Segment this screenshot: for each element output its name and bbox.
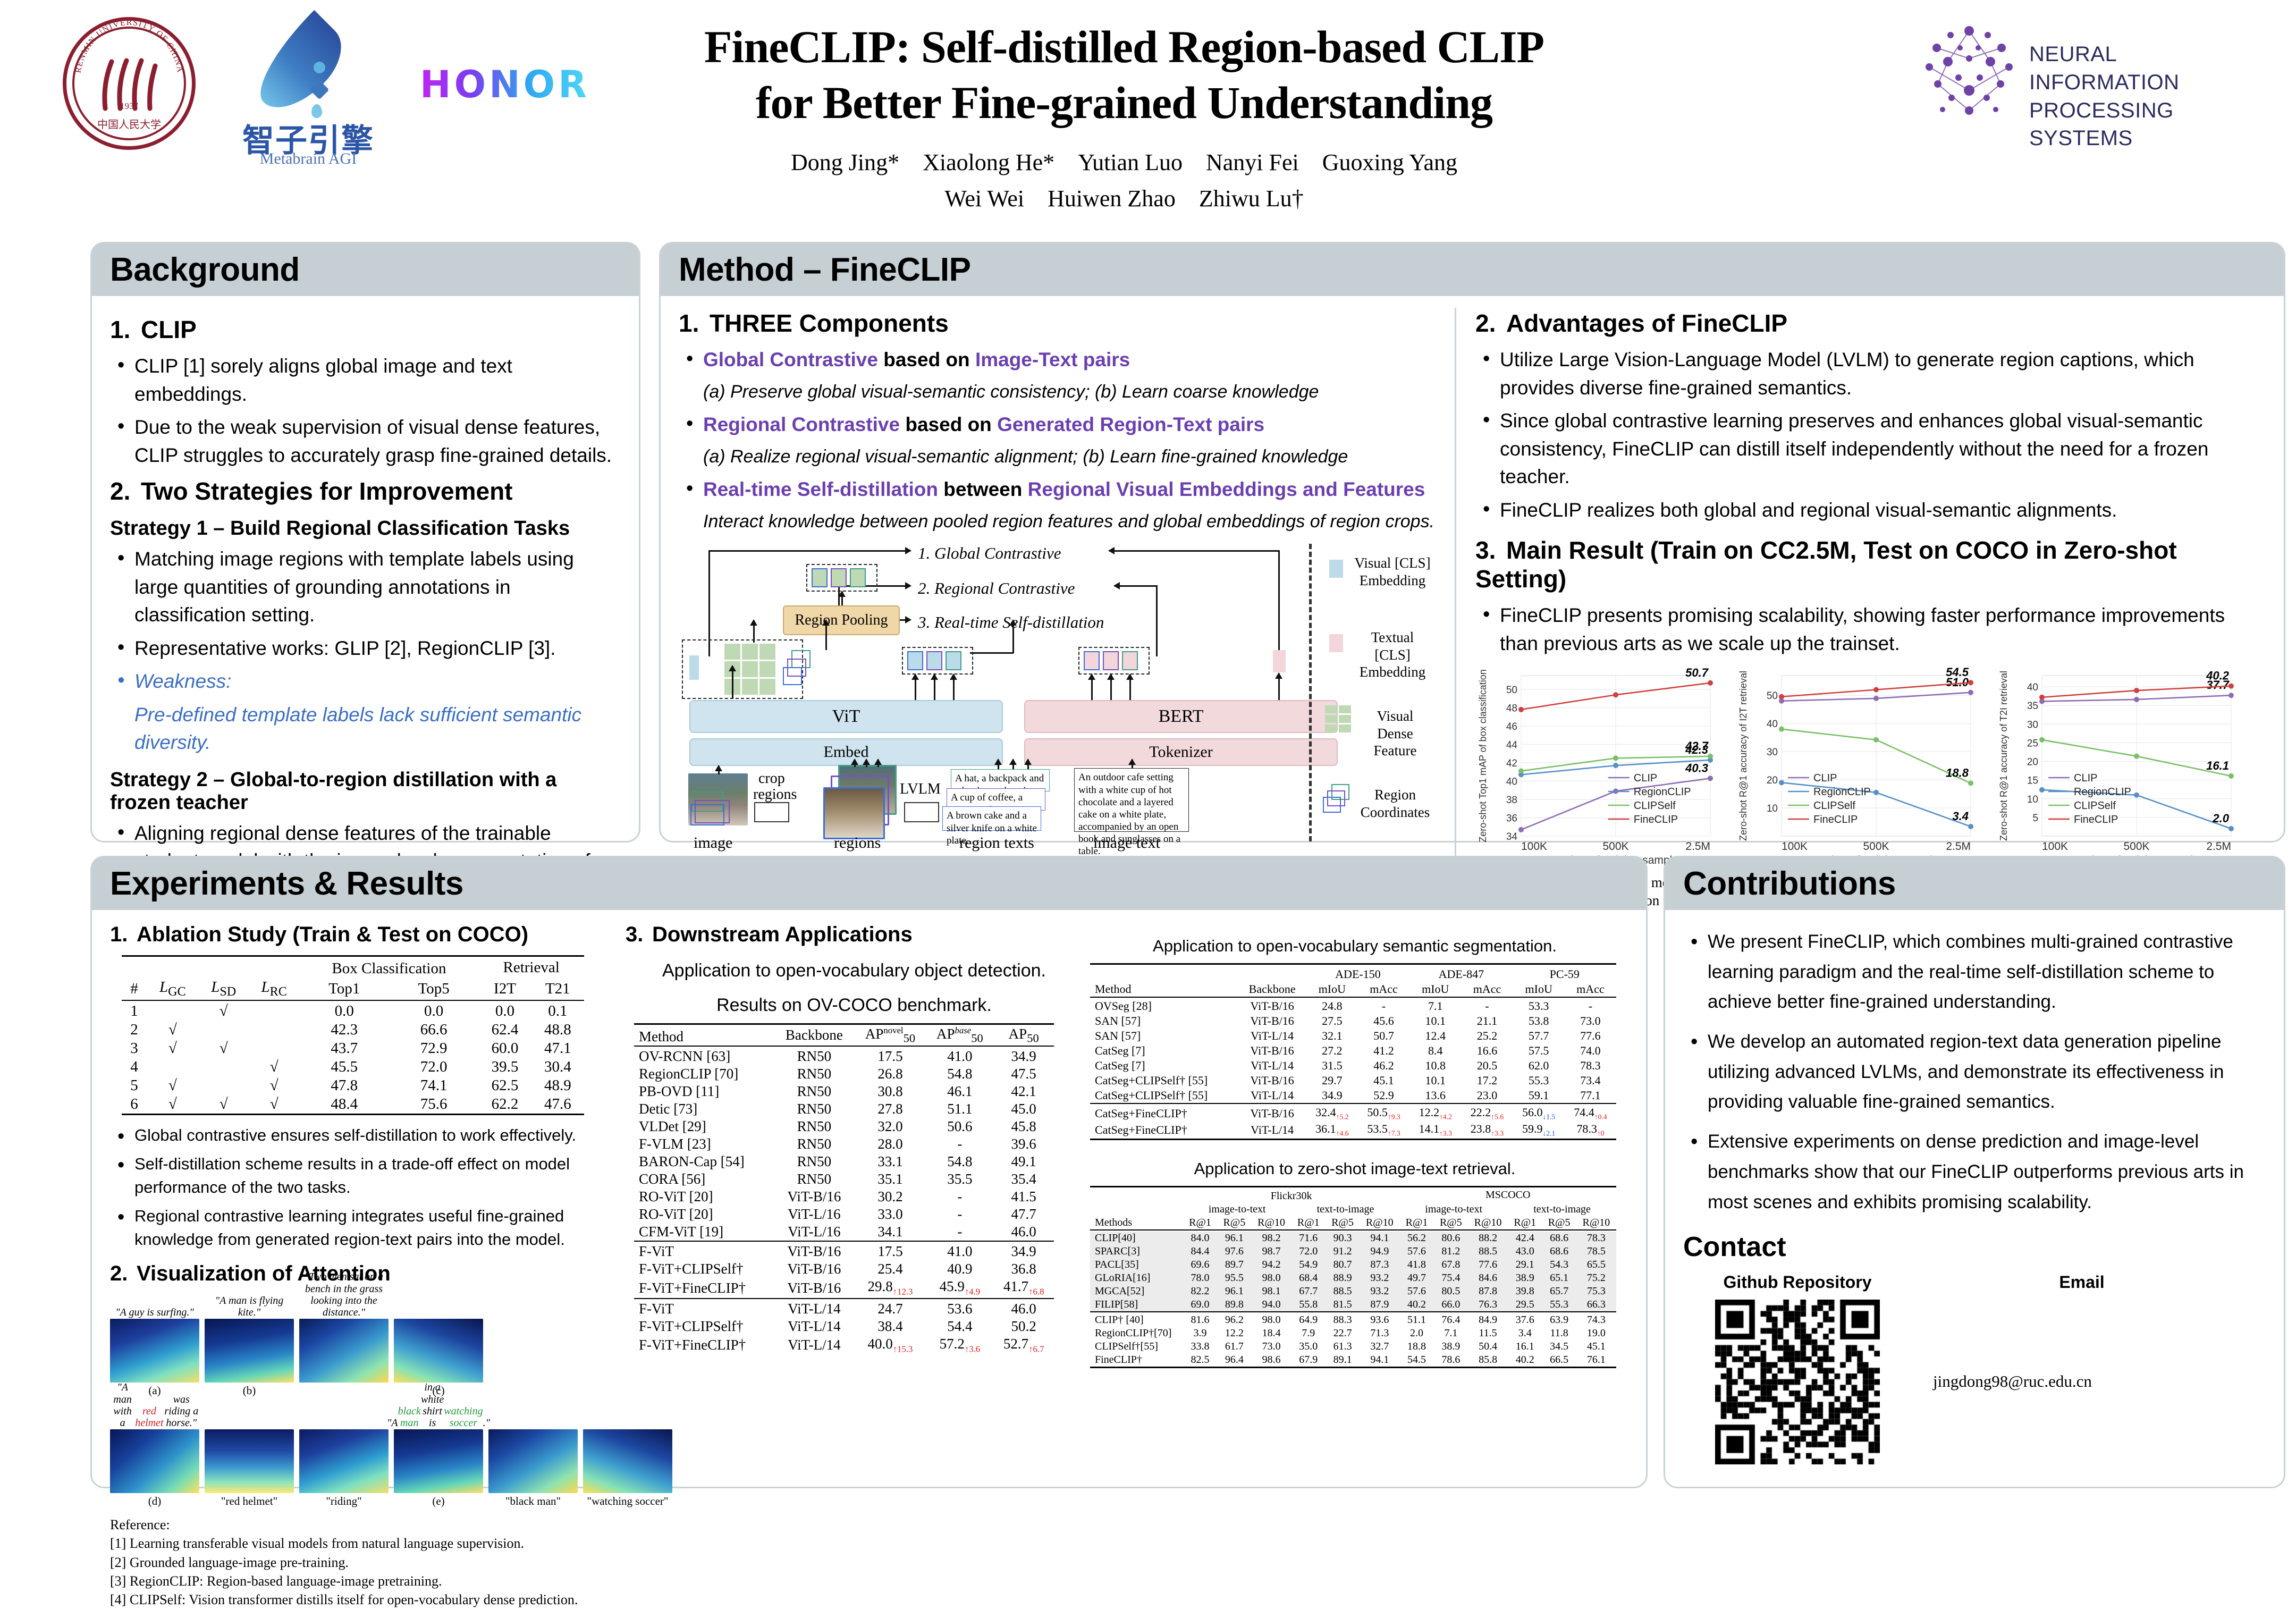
connector <box>1109 550 1279 552</box>
svg-text:Zero-shot R@1 accuracy of T2I: Zero-shot R@1 accuracy of T2I retrieval <box>1998 671 2009 841</box>
poster-title-line1: FineCLIP: Self-distilled Region-based CL… <box>704 21 1544 72</box>
attention-heatmap-image <box>205 1319 294 1383</box>
ovd-intro: Application to open-vocabulary object de… <box>626 960 1083 981</box>
section-number: 3. <box>1475 536 1506 564</box>
attention-viz-caption <box>488 1405 578 1429</box>
svg-text:40: 40 <box>1506 777 1517 788</box>
component-term-mid: between <box>943 478 1022 500</box>
connector-arrow <box>854 760 856 767</box>
contact-heading: Contact <box>1683 1231 2266 1263</box>
method-heading: Method – FineCLIP <box>679 251 2266 289</box>
list-item: Due to the weak supervision of visual de… <box>110 414 621 469</box>
honor-logo: HONOR <box>420 63 590 106</box>
table-row: CatSeg+FineCLIP†ViT-L/1436.1↑4.653.5↑7.3… <box>1090 1122 1616 1139</box>
neurips-wordmark: NEURAL INFORMATION PROCESSING SYSTEMS <box>2029 40 2259 153</box>
reference-item: [2] Grounded language-image pre-training… <box>110 1553 612 1572</box>
pooled-token <box>831 568 847 587</box>
results-panel-body: 1.Ablation Study (Train & Test on COCO) … <box>92 910 1646 1618</box>
region-embedding-tile <box>946 651 961 670</box>
svg-text:40.3: 40.3 <box>1685 762 1708 775</box>
region-embedding-tile <box>907 651 923 670</box>
poster-root: RENMIN UNIVERSITY OF CHINA 1937 中国人民大学 智… <box>0 0 2296 1531</box>
legend-swatch-textual-cls <box>1329 634 1343 652</box>
component-detail: (a) Realize regional visual-semantic ali… <box>703 444 1441 470</box>
attention-viz-label: (b) <box>205 1384 294 1397</box>
lvlm-label: LVLM <box>900 781 941 798</box>
neurips-logo: NEURAL INFORMATION PROCESSING SYSTEMS <box>1919 22 2259 129</box>
component-term-mid: based on <box>883 349 969 370</box>
list-item: Real-time Self-distillation between Regi… <box>679 476 1441 504</box>
references-block: Reference: [1] Learning transferable vis… <box>110 1515 612 1609</box>
list-item: Global Contrastive based on Image-Text p… <box>679 346 1441 374</box>
results-right-column: 3.Downstream Applications Application to… <box>620 922 1619 1609</box>
github-block: Github Repository <box>1683 1273 1912 1464</box>
method-panel: Method – FineCLIP 1.THREE Components Glo… <box>659 242 2285 842</box>
diagram-col-label-regions: regions <box>834 834 881 852</box>
svg-text:5: 5 <box>2032 813 2038 824</box>
diagram-col-label-image: image <box>694 834 732 852</box>
svg-text:CLIPSelf: CLIPSelf <box>1813 800 1855 812</box>
attention-heatmap-image <box>299 1319 389 1383</box>
section-number: 3. <box>626 923 652 947</box>
attention-viz-label: (d) <box>110 1495 199 1508</box>
table-row: F-ViT+CLIPSelf†ViT-B/1625.440.936.8 <box>634 1260 1054 1278</box>
pooled-token <box>850 568 866 587</box>
ovcoco-table: MethodBackboneAPnovel50APbase50AP50OV-RC… <box>634 1023 1054 1355</box>
svg-text:36: 36 <box>1506 813 1517 824</box>
list-item: Representative works: GLIP [2], RegionCL… <box>110 635 621 663</box>
attention-viz-caption <box>205 1405 294 1429</box>
title-block: FineCLIP: Self-distilled Region-based CL… <box>627 19 1621 217</box>
email-label: Email <box>1933 1273 2231 1292</box>
svg-text:3.4: 3.4 <box>1952 810 1969 823</box>
metabrain-english-name: Metabrain AGI <box>223 150 393 168</box>
table-row: SAN [57]ViT-L/1432.150.712.425.257.777.6 <box>1090 1029 1616 1043</box>
table-row: CatSeg+CLIPSelf† [55]ViT-L/1434.952.913.… <box>1090 1088 1616 1103</box>
table-row: 2√42.366.662.448.8 <box>122 1021 584 1039</box>
svg-text:500K: 500K <box>1863 840 1889 853</box>
segmentation-table: ADE-150ADE-847PC-59MethodBackbonemIoUmAc… <box>1090 963 1616 1141</box>
svg-text:100K: 100K <box>2042 840 2068 853</box>
legend-swatch-visual-cls <box>1329 560 1343 578</box>
section-title: Main Result (Train on CC2.5M, Test on CO… <box>1475 536 2177 593</box>
table-row: CFM-ViT [19]ViT-L/1634.1-46.0 <box>634 1223 1054 1241</box>
table-row: OV-RCNN [63]RN5017.541.034.9 <box>634 1048 1054 1065</box>
table-row: SPARC[3]84.497.698.772.091.294.957.681.2… <box>1090 1245 1616 1258</box>
svg-text:20: 20 <box>2027 757 2038 768</box>
table-row: RegionCLIP†[70]3.912.218.47.922.771.32.0… <box>1090 1327 1616 1340</box>
crop-label-line2: regions <box>753 786 797 803</box>
component-list-3: Real-time Self-distillation between Regi… <box>679 476 1441 504</box>
attention-viz-caption <box>394 1294 483 1319</box>
vit-box: ViT <box>689 700 1003 733</box>
reference-item: [1] Learning transferable visual models … <box>110 1534 612 1553</box>
component-list-2: Regional Contrastive based on Generated … <box>679 411 1441 439</box>
legend-swatch-dense-feature <box>1325 705 1353 733</box>
background-heading: Background <box>110 251 621 289</box>
svg-text:40: 40 <box>2027 682 2038 693</box>
honor-wordmark: HONOR <box>420 63 590 106</box>
background-panel-header: Background <box>92 243 639 296</box>
table-row: CatSeg [7]ViT-L/1431.546.210.820.562.078… <box>1090 1058 1616 1073</box>
svg-text:CLIPSelf: CLIPSelf <box>1634 800 1676 812</box>
region-text-card: A brown cake and a silver knife on a whi… <box>942 806 1041 831</box>
strategy-1-bullets: Matching image regions with template lab… <box>110 545 621 696</box>
svg-text:15: 15 <box>2027 776 2038 787</box>
svg-text:40: 40 <box>1767 719 1778 730</box>
svg-text:16.1: 16.1 <box>2206 759 2229 772</box>
svg-text:CLIP: CLIP <box>2074 772 2097 784</box>
textual-embedding-tile <box>1122 651 1138 670</box>
connector-arrow <box>1012 620 1014 653</box>
table-row: F-ViT+FineCLIP†ViT-L/1440.0↑15.357.2↑3.6… <box>634 1335 1054 1355</box>
section-title: Two Strategies for Improvement <box>141 477 513 505</box>
component-term-mid: based on <box>905 414 991 435</box>
section-number: 1. <box>110 923 137 947</box>
ovd-column: 3.Downstream Applications Application to… <box>626 922 1083 1369</box>
reference-item: [4] CLIPSelf: Vision transformer distill… <box>110 1590 612 1609</box>
table-row: F-ViTViT-L/1424.753.646.0 <box>634 1300 1054 1318</box>
list-item: We present FineCLIP, which combines mult… <box>1683 927 2266 1017</box>
svg-text:2.5M: 2.5M <box>1946 840 1971 853</box>
section-number: 2. <box>1475 309 1506 338</box>
svg-text:18.8: 18.8 <box>1946 766 1969 780</box>
svg-text:Zero-shot R@1 accuracy of I2T: Zero-shot R@1 accuracy of I2T retrieval <box>1738 671 1749 841</box>
strategy-1-weakness-label: Weakness: <box>110 668 621 696</box>
clip-bullets: CLIP [1] sorely aligns global image and … <box>110 352 621 469</box>
legend-label-region-coord: Region Coordinates <box>1358 786 1432 821</box>
table-row: FineCLIP†82.596.498.667.989.194.154.578.… <box>1090 1353 1616 1368</box>
list-item: Utilize Large Vision-Language Model (LVL… <box>1475 346 2252 402</box>
attention-viz-cell: "red helmet" <box>205 1405 294 1508</box>
svg-text:RegionCLIP: RegionCLIP <box>2074 786 2131 798</box>
list-item: Regional Contrastive based on Generated … <box>679 411 1441 439</box>
author: Xiaolong He* <box>923 145 1054 181</box>
svg-text:30: 30 <box>2027 720 2038 731</box>
attention-heatmap-image <box>394 1319 483 1383</box>
author: Wei Wei <box>944 181 1024 217</box>
author: Nanyi Fei <box>1206 145 1299 181</box>
attention-viz-label: "black man" <box>488 1495 578 1508</box>
svg-text:500K: 500K <box>1602 840 1628 853</box>
seg-retrieval-column: Application to open-vocabulary semantic … <box>1083 922 1619 1369</box>
ablation-table: Box ClassificationRetrieval#LGCLSDLRCTop… <box>122 955 584 1116</box>
author: Yutian Luo <box>1078 145 1183 181</box>
connector <box>1278 550 1280 656</box>
table-row: FILIP[58]69.089.894.055.881.587.940.266.… <box>1090 1298 1616 1312</box>
svg-text:34: 34 <box>1506 831 1518 842</box>
table-row: F-ViT+CLIPSelf†ViT-L/1438.454.450.2 <box>634 1318 1054 1335</box>
diagram-step-1: 1. Global Contrastive <box>918 544 1061 563</box>
contributions-panel-header: Contributions <box>1665 857 2284 910</box>
svg-text:CLIP: CLIP <box>1813 772 1837 784</box>
tokenizer-box: Tokenizer <box>1024 738 1338 766</box>
table-row: Detic [73]RN5027.851.145.0 <box>634 1100 1054 1118</box>
attention-heatmap-image <box>110 1429 199 1493</box>
table-row: 1√0.00.00.00.1 <box>122 1002 584 1021</box>
background-panel: Background 1.CLIP CLIP [1] sorely aligns… <box>90 242 640 842</box>
attention-viz-cell: "Two men sat on a bench in the grass loo… <box>299 1294 389 1397</box>
advantages-list: Utilize Large Vision-Language Model (LVL… <box>1475 346 2252 524</box>
component-detail: (a) Preserve global visual-semantic cons… <box>703 380 1441 405</box>
author: Zhiwu Lu† <box>1199 181 1304 217</box>
attention-viz-cell: "A black man in a white shirt is watchin… <box>394 1405 483 1508</box>
author-list: Dong Jing*Xiaolong He*Yutian LuoNanyi Fe… <box>627 145 1621 217</box>
component-list: Global Contrastive based on Image-Text p… <box>679 346 1441 374</box>
github-qr-code[interactable] <box>1715 1300 1880 1464</box>
textual-embedding-tile <box>1084 651 1100 670</box>
section-title: THREE Components <box>710 309 949 337</box>
image-text-embedding-tile <box>1273 650 1286 672</box>
connector-arrow <box>953 675 955 700</box>
attention-viz-caption <box>299 1405 389 1429</box>
poster-header: RENMIN UNIVERSITY OF CHINA 1937 中国人民大学 智… <box>0 0 2296 234</box>
section-number: 1. <box>110 315 141 344</box>
connector-arrow <box>1129 675 1131 700</box>
attention-heatmap-image <box>205 1429 294 1493</box>
section-title: CLIP <box>141 316 197 343</box>
connector-arrow <box>1110 675 1112 700</box>
component-term-b: Regional Visual Embeddings and Features <box>1028 478 1425 500</box>
svg-text:46: 46 <box>1506 721 1517 732</box>
connector-arrow <box>934 675 935 700</box>
svg-text:20: 20 <box>1767 775 1778 786</box>
results-left-column: 1.Ablation Study (Train & Test on COCO) … <box>110 922 620 1609</box>
email-address[interactable]: jingdong98@ruc.edu.cn <box>1933 1372 2231 1391</box>
diagram-divider <box>1309 544 1312 841</box>
attention-heatmap-image <box>110 1319 199 1383</box>
strategy-1-weakness-text: Pre-defined template labels lack suffici… <box>134 701 621 757</box>
svg-text:50: 50 <box>1506 685 1517 696</box>
svg-text:40.2: 40.2 <box>2206 669 2230 682</box>
table-row: 6√√√48.475.662.247.6 <box>122 1095 584 1115</box>
table-row: GLoRIA[16]78.095.598.068.488.993.249.775… <box>1090 1271 1616 1285</box>
list-item: Since global contrastive learning preser… <box>1475 407 2252 491</box>
section-title: Ablation Study (Train & Test on COCO) <box>137 923 528 946</box>
svg-text:100K: 100K <box>1782 840 1808 853</box>
table-row: BARON-Cap [54]RN5033.154.849.1 <box>634 1153 1054 1170</box>
table-row: RegionCLIP [70]RN5026.854.847.5 <box>634 1065 1054 1083</box>
retrieval-title: Application to zero-shot image-text retr… <box>1090 1159 1619 1178</box>
background-section-2: 2.Two Strategies for Improvement <box>110 477 621 505</box>
region-embedding-tile <box>926 651 942 670</box>
connector <box>1115 585 1157 587</box>
connector-arrow <box>732 666 733 699</box>
legend-label-textual-cls: Textual [CLS] Embedding <box>1353 629 1432 680</box>
ovcoco-title: Results on OV-COCO benchmark. <box>626 995 1083 1016</box>
input-image-thumbnail <box>688 773 748 825</box>
table-row: PB-OVD [11]RN5030.846.142.1 <box>634 1083 1054 1100</box>
retrieval-table: Flickr30kMSCOCOimage-to-texttext-to-imag… <box>1090 1186 1616 1369</box>
method-panel-header: Method – FineCLIP <box>661 243 2284 296</box>
connector-arrow <box>1012 760 1014 769</box>
connector-arrow <box>915 675 916 700</box>
svg-text:100K: 100K <box>1521 840 1547 853</box>
connector-arrow <box>825 620 827 650</box>
attention-heatmap-image <box>299 1429 389 1493</box>
list-item: Regional contrastive learning integrates… <box>110 1204 612 1251</box>
component-term-b: Image-Text pairs <box>975 349 1130 370</box>
svg-text:25: 25 <box>2027 738 2038 749</box>
connector <box>970 652 1014 654</box>
attention-viz-cell: "A man with a red helmet was riding a ho… <box>110 1405 199 1508</box>
strategy-2-title: Strategy 2 – Global-to-region distillati… <box>110 769 621 814</box>
author: Guoxing Yang <box>1322 145 1457 181</box>
method-section-1: 1.THREE Components <box>679 309 1441 338</box>
section-title: Advantages of FineCLIP <box>1506 309 1787 337</box>
author: Huiwen Zhao <box>1048 181 1176 217</box>
table-row: F-ViTViT-B/1617.541.034.9 <box>634 1243 1054 1260</box>
crop-flow-arrow-icon <box>754 802 789 822</box>
contributions-heading: Contributions <box>1683 865 2266 903</box>
attention-heatmap-image <box>394 1429 483 1493</box>
connector-arrow <box>1278 673 1280 700</box>
svg-text:42.7: 42.7 <box>1685 739 1709 753</box>
connector-arrow <box>753 620 755 643</box>
svg-text:FineCLIP: FineCLIP <box>2074 814 2118 825</box>
connector <box>1156 585 1158 656</box>
svg-text:50.7: 50.7 <box>1685 666 1709 679</box>
connector-arrow <box>841 592 843 605</box>
image-text-card: An outdoor cafe setting with a white cup… <box>1074 768 1189 832</box>
region-crop-thumbnail <box>823 787 885 839</box>
method-panel-body: 1.THREE Components Global Contrastive ba… <box>661 296 2284 918</box>
svg-text:10: 10 <box>1767 803 1778 814</box>
table-row: CLIPSelf†[55]33.861.773.035.061.332.718.… <box>1090 1340 1616 1353</box>
bert-box: BERT <box>1024 700 1338 733</box>
svg-text:Zero-shot Top1 mAP of box clas: Zero-shot Top1 mAP of box classification <box>1478 670 1488 843</box>
table-row: SAN [57]ViT-B/1627.545.610.121.153.873.0 <box>1090 1014 1616 1029</box>
neurips-line2: PROCESSING SYSTEMS <box>2029 97 2259 153</box>
region-coord-box <box>783 667 802 685</box>
svg-text:CLIPSelf: CLIPSelf <box>2074 800 2116 812</box>
contributions-panel: Contributions We present FineCLIP, which… <box>1664 856 2285 1488</box>
table-row: RO-ViT [20]ViT-B/1630.2-41.5 <box>634 1188 1054 1206</box>
main-result-bullets: FineCLIP presents promising scalability,… <box>1475 602 2252 658</box>
neurips-line1: NEURAL INFORMATION <box>2029 40 2259 97</box>
table-row: 5√√47.874.162.548.9 <box>122 1076 584 1095</box>
results-heading: Experiments & Results <box>110 865 1628 903</box>
section-title: Downstream Applications <box>652 923 913 946</box>
github-label: Github Repository <box>1683 1273 1912 1292</box>
svg-text:54.5: 54.5 <box>1946 665 1969 679</box>
table-row: MGCA[52]82.296.198.167.788.593.257.680.5… <box>1090 1285 1616 1298</box>
svg-text:10: 10 <box>2027 794 2038 805</box>
table-row: OVSeg [28]ViT-B/1624.8-7.1-53.3- <box>1090 999 1616 1014</box>
results-panel: Experiments & Results 1.Ablation Study (… <box>90 856 1648 1488</box>
table-row: CLIP[40]84.096.198.271.690.394.156.280.6… <box>1090 1232 1616 1245</box>
method-right-column: 2.Advantages of FineCLIP Utilize Large V… <box>1455 308 2252 909</box>
svg-text:RegionCLIP: RegionCLIP <box>1813 786 1871 798</box>
table-row: CatSeg+CLIPSelf† [55]ViT-B/1629.745.110.… <box>1090 1073 1616 1088</box>
pooled-token <box>812 568 828 587</box>
list-item: Matching image regions with template lab… <box>110 545 621 629</box>
svg-text:50: 50 <box>1767 690 1778 702</box>
legend-swatch-region-coord <box>1323 797 1341 813</box>
component-term-a: Global Contrastive <box>703 349 878 370</box>
attention-viz-label: (e) <box>394 1495 483 1508</box>
connector-arrow <box>1091 675 1093 700</box>
connector-arrow <box>1132 760 1133 768</box>
svg-text:42: 42 <box>1506 758 1517 769</box>
attention-viz-cell: "riding" <box>299 1405 389 1508</box>
component-term-b: Generated Region-Text pairs <box>997 414 1264 435</box>
architecture-diagram: 1. Global Contrastive 2. Regional Contra… <box>679 541 1439 838</box>
list-item: Self-distillation scheme results in a tr… <box>110 1152 612 1199</box>
textual-embedding-tile <box>1103 651 1119 670</box>
ablation-bullets: Global contrastive ensures self-distilla… <box>110 1124 612 1251</box>
table-row: F-VLM [23]RN5028.0-39.6 <box>634 1135 1054 1153</box>
embed-box: Embed <box>689 738 1003 766</box>
section-number: 2. <box>110 477 141 505</box>
svg-text:30: 30 <box>1767 747 1778 758</box>
table-row: 3√√43.772.960.047.1 <box>122 1039 584 1058</box>
svg-text:2.5M: 2.5M <box>2206 840 2231 853</box>
table-row: CatSeg [7]ViT-B/1627.241.28.416.657.574.… <box>1090 1043 1616 1058</box>
svg-text:FineCLIP: FineCLIP <box>1813 814 1858 825</box>
list-item: CLIP [1] sorely aligns global image and … <box>110 352 621 408</box>
background-section-1: 1.CLIP <box>110 315 621 344</box>
results-section-1: 1.Ablation Study (Train & Test on COCO) <box>110 923 612 947</box>
attention-viz-label: "riding" <box>299 1495 389 1508</box>
component-term-a: Real-time Self-distillation <box>703 478 938 500</box>
neurips-network-icon <box>1919 22 2020 123</box>
table-row: PACL[35]69.689.794.254.980.787.341.867.8… <box>1090 1258 1616 1271</box>
attention-visualization-row-2: "A man with a red helmet was riding a ho… <box>110 1405 612 1508</box>
attention-viz-caption: "A man with a red helmet was riding a ho… <box>110 1405 199 1429</box>
contact-row: Github Repository Email jingdong98@ruc.e… <box>1683 1273 2266 1464</box>
diagram-step-2: 2. Regional Contrastive <box>918 579 1075 598</box>
table-row: 4√45.572.039.530.4 <box>122 1058 584 1076</box>
metabrain-logo: 智子引擎 Metabrain AGI <box>223 16 393 170</box>
legend-label-visual-cls: Visual [CLS] Embedding <box>1353 554 1432 589</box>
svg-text:2.0: 2.0 <box>2212 812 2229 825</box>
lvlm-flow-arrow-icon <box>904 802 939 822</box>
results-panel-header: Experiments & Results <box>92 857 1646 910</box>
list-item: Global contrastive ensures self-distilla… <box>110 1124 612 1147</box>
connector-arrow <box>998 760 999 769</box>
component-term-a: Regional Contrastive <box>703 414 900 435</box>
author: Dong Jing* <box>791 145 899 181</box>
method-left-column: 1.THREE Components Global Contrastive ba… <box>679 308 1455 909</box>
contributions-panel-body: We present FineCLIP, which combines mult… <box>1665 910 2284 1473</box>
method-section-3: 3.Main Result (Train on CC2.5M, Test on … <box>1475 536 2252 593</box>
table-row: F-ViT+FineCLIP†ViT-B/1629.8↑12.345.9↑4.9… <box>634 1278 1054 1298</box>
method-section-2: 2.Advantages of FineCLIP <box>1475 309 2252 338</box>
seg-title: Application to open-vocabulary semantic … <box>1090 937 1619 956</box>
attention-visualization-row-1: "A guy is surfing."(a)"A man is flying k… <box>110 1294 612 1397</box>
strategy-1-title: Strategy 1 – Build Regional Classificati… <box>110 517 621 540</box>
metabrain-dot-1-icon <box>314 62 325 73</box>
list-item: We develop an automated region-text data… <box>1683 1027 2266 1117</box>
metabrain-droplet-icon <box>243 10 356 123</box>
crop-label-line1: crop <box>758 770 785 787</box>
attention-viz-caption: "A black man in a white shirt is watchin… <box>394 1405 483 1429</box>
svg-text:FineCLIP: FineCLIP <box>1634 814 1678 825</box>
legend-label-dense-feature: Visual Dense Feature <box>1358 707 1432 759</box>
table-row: CatSeg+FineCLIP†ViT-B/1632.4↑5.250.5↑9.3… <box>1090 1105 1616 1122</box>
table-row: CLIP† [40]81.696.298.064.988.393.651.176… <box>1090 1313 1616 1327</box>
table-row: VLDet [29]RN5032.050.645.8 <box>634 1118 1054 1135</box>
connector-arrow <box>1027 760 1029 769</box>
email-block: Email jingdong98@ruc.edu.cn <box>1933 1273 2231 1464</box>
attention-viz-cell: "black man" <box>488 1405 578 1508</box>
section-number: 2. <box>110 1262 137 1286</box>
connector <box>708 550 910 552</box>
visual-cls-embedding-tile <box>689 655 699 680</box>
table-row: RO-ViT [20]ViT-L/1633.0-47.7 <box>634 1206 1054 1223</box>
list-item: Extensive experiments on dense predictio… <box>1683 1127 2266 1217</box>
